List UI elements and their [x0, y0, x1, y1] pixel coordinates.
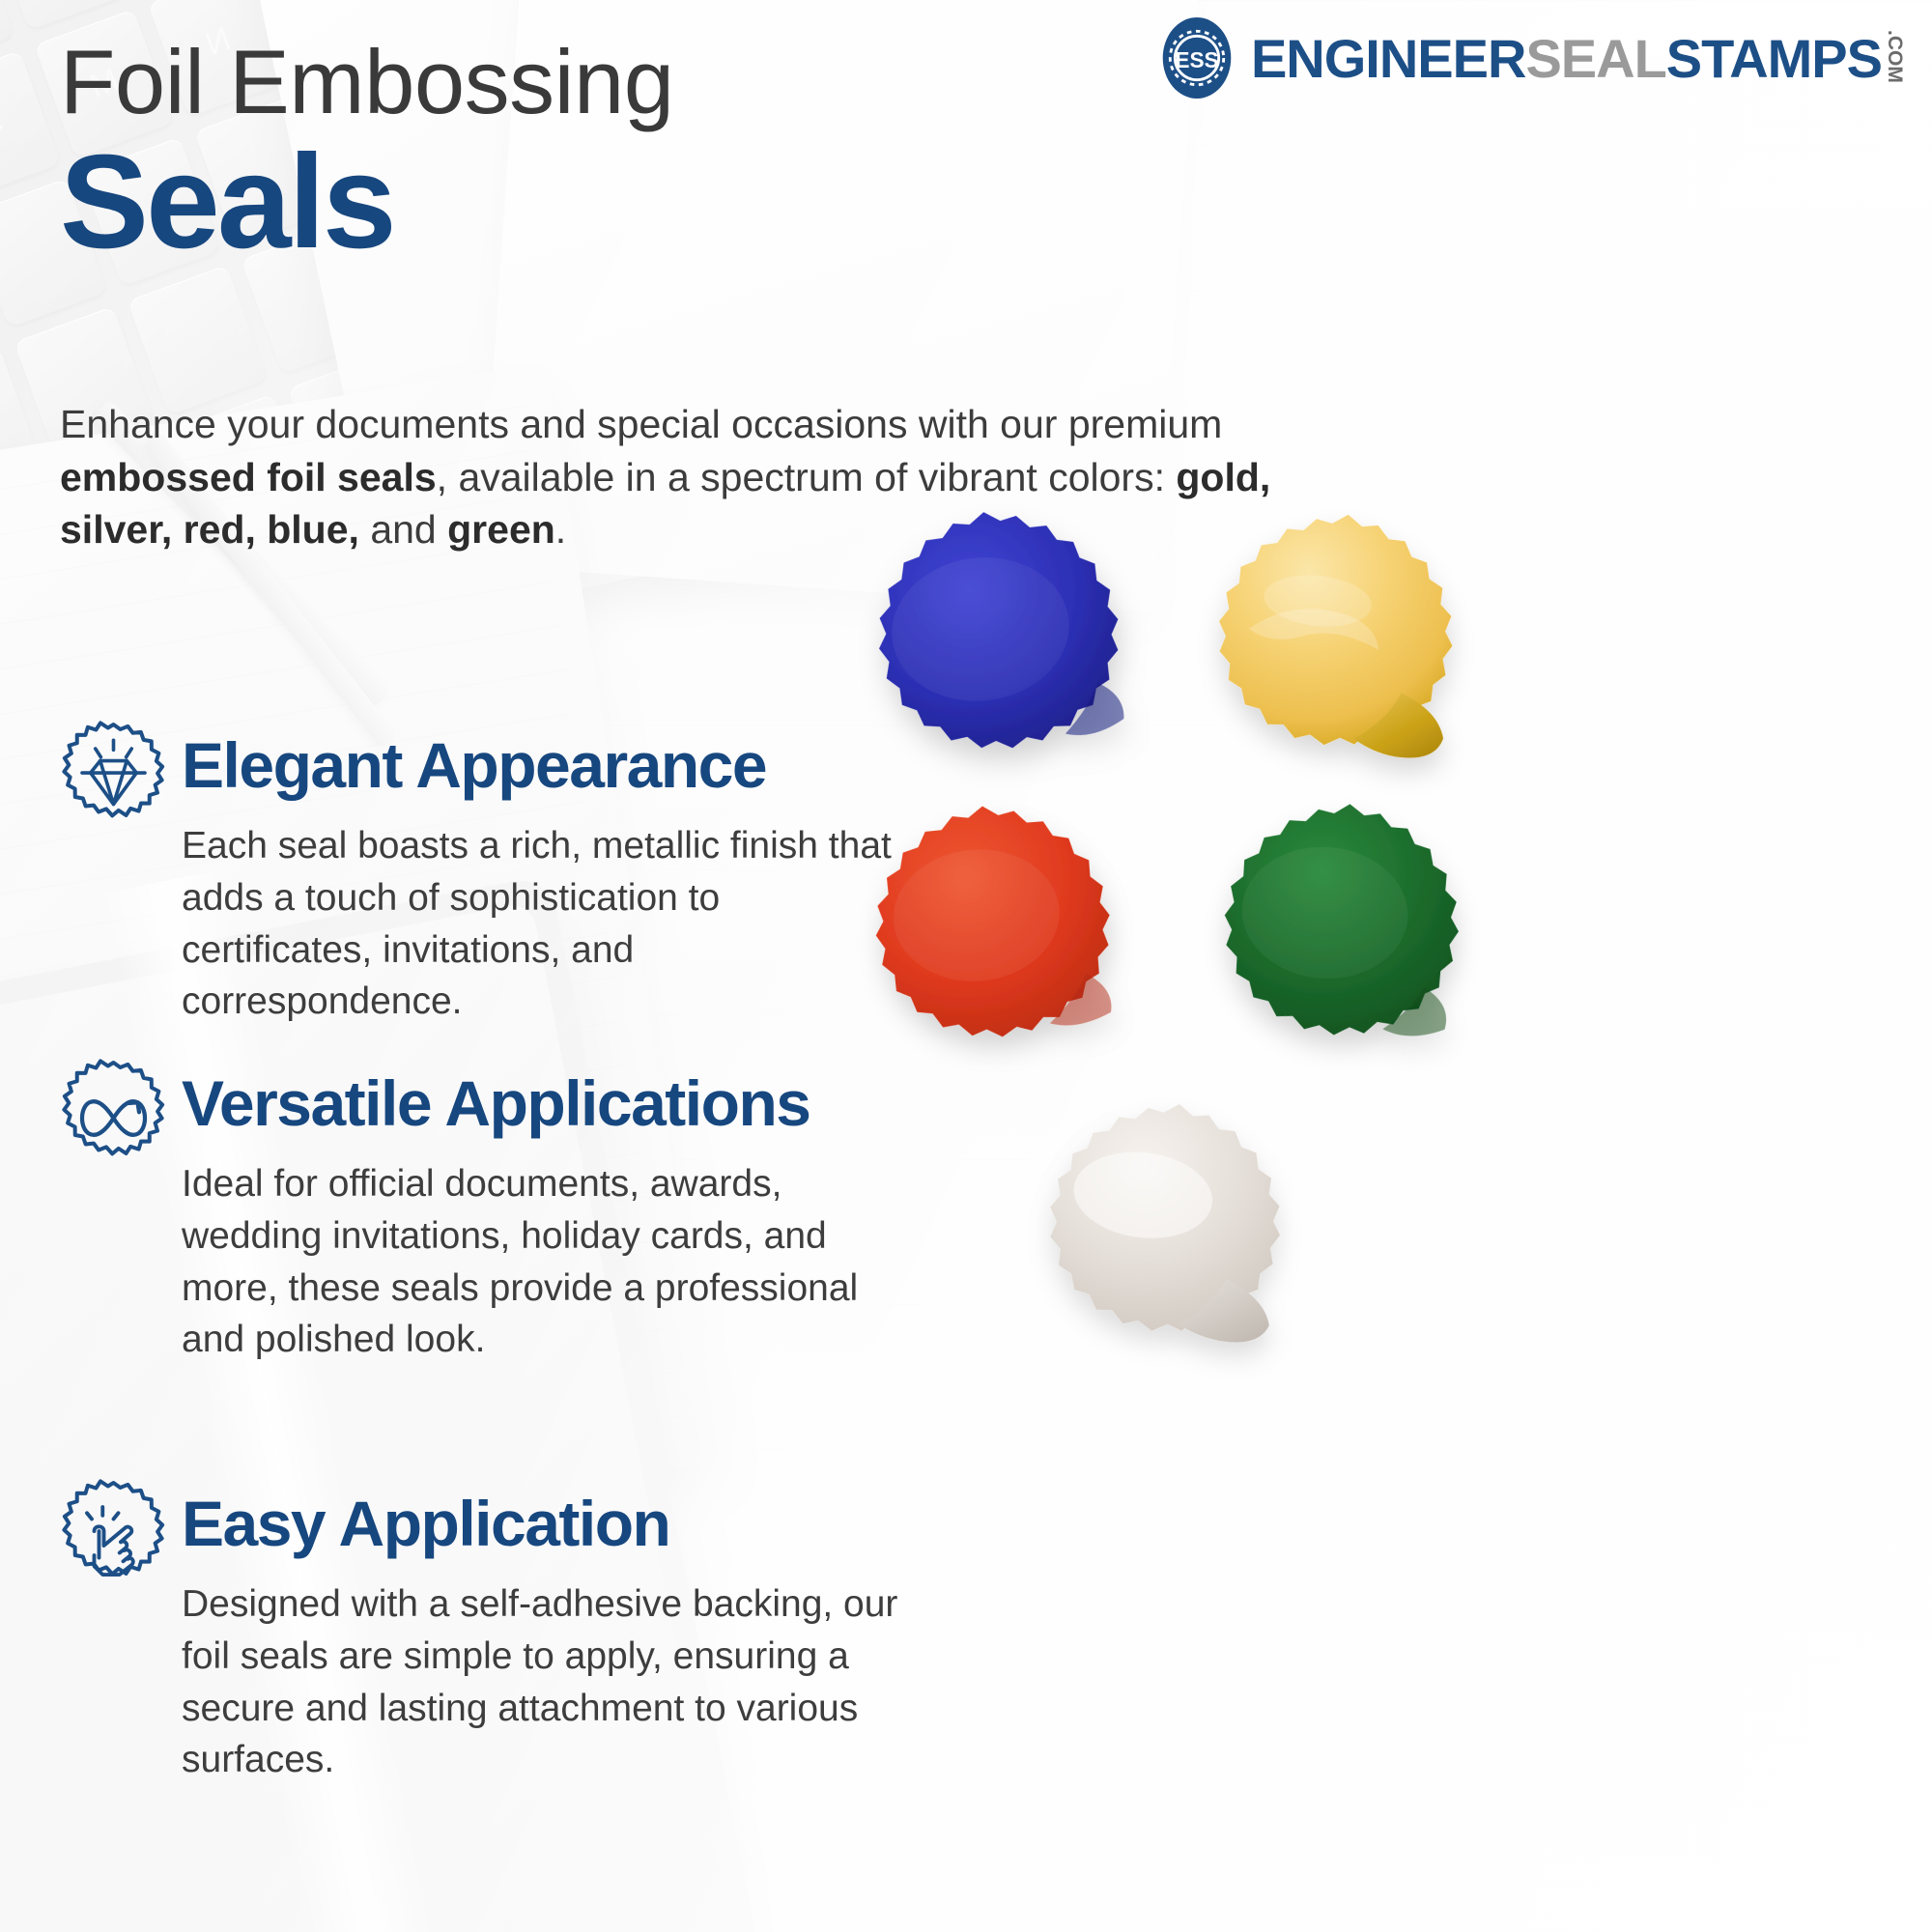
brand-logo[interactable]: ESS ENGINEERSEALSTAMPS.COM	[1156, 17, 1905, 99]
logo-word-stamps: STAMPS	[1666, 32, 1882, 86]
blue-foil-seal-icon	[836, 507, 1169, 816]
feature-title: Elegant Appearance	[182, 720, 903, 797]
page-title-line2: Seals	[60, 135, 394, 269]
feature-easy-application: Easy Application Designed with a self-ad…	[53, 1478, 903, 1786]
silver-foil-seal-icon	[1000, 1101, 1328, 1401]
intro-bold-1: embossed foil seals	[60, 455, 437, 499]
gear-seal-icon: ESS	[1156, 17, 1237, 99]
logo-tld: .COM	[1885, 30, 1905, 83]
feature-body: Each seal boasts a rich, metallic finish…	[182, 820, 901, 1028]
brand-wordmark: ENGINEERSEALSTAMPS.COM	[1251, 30, 1905, 87]
infographic-page: К Л У Д Ж Э ▶ Ф Ы В А П Р О Л Д Я Ч С	[0, 0, 1932, 1932]
logo-word-seal: SEAL	[1525, 32, 1665, 86]
feature-body: Ideal for official documents, awards, we…	[182, 1158, 901, 1366]
feature-elegant-appearance: Elegant Appearance Each seal boasts a ri…	[53, 720, 903, 1028]
seal-green	[1174, 802, 1507, 1106]
feature-title: Versatile Applications	[182, 1058, 903, 1135]
gold-foil-seal-icon	[1169, 512, 1502, 811]
tap-hand-badge-icon	[53, 1478, 174, 1599]
diamond-badge-icon	[53, 720, 174, 840]
intro-text-1: Enhance your documents and special occas…	[60, 402, 1222, 446]
infinity-badge-icon	[53, 1058, 174, 1179]
seal-gold	[1169, 512, 1502, 811]
feature-body: Designed with a self-adhesive backing, o…	[182, 1578, 901, 1786]
page-title-line1: Foil Embossing	[60, 37, 674, 128]
green-foil-seal-icon	[1174, 802, 1507, 1106]
logo-word-engineer: ENGINEER	[1251, 32, 1526, 86]
intro-text-4: .	[555, 507, 566, 552]
seal-blue	[836, 507, 1169, 816]
intro-text-2: , available in a spectrum of vibrant col…	[437, 455, 1177, 499]
intro-bold-3: green	[447, 507, 555, 552]
logo-mark-text: ESS	[1175, 47, 1218, 72]
red-foil-seal-icon	[831, 802, 1164, 1106]
feature-versatile-applications: Versatile Applications Ideal for officia…	[53, 1058, 903, 1366]
seal-silver	[1000, 1101, 1328, 1401]
seal-red	[831, 802, 1164, 1106]
intro-text-3: and	[359, 507, 447, 552]
content-layer: ESS ENGINEERSEALSTAMPS.COM Foil Embossin…	[0, 0, 1932, 1932]
feature-title: Easy Application	[182, 1478, 903, 1555]
